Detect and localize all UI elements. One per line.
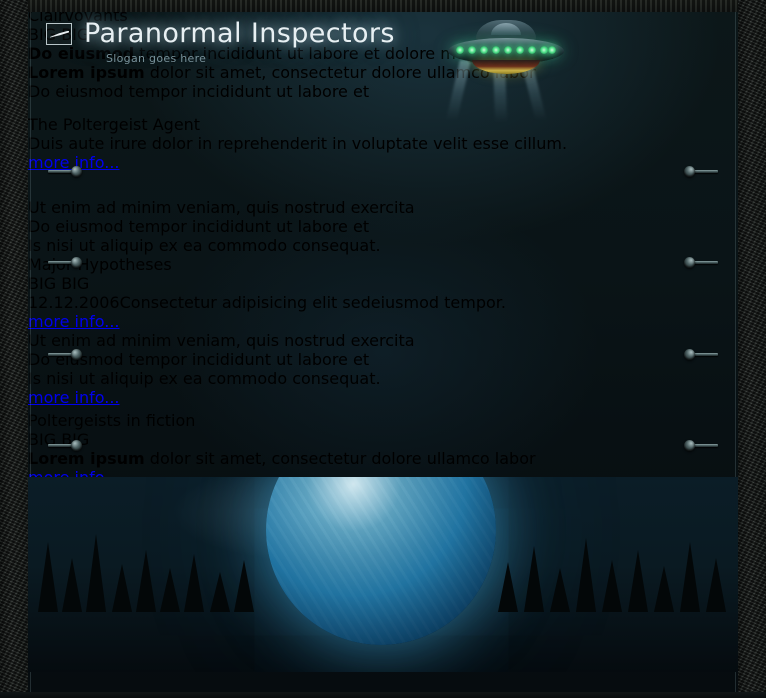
bullet-item: Lorem ipsum dolor sit amet, consectetur … — [28, 63, 738, 82]
section-media-row: BIG BIG 12.12.2006Consectetur adipisicin… — [28, 274, 738, 331]
logo-row[interactable]: Paranormal Inspectors — [46, 18, 395, 49]
list-item[interactable]: Do eiusmod tempor incididunt ut labore e… — [28, 82, 738, 101]
site-slogan: Slogan goes here — [106, 52, 395, 65]
bullet-text: 12.12.2006Consectetur adipisicing elit s… — [28, 293, 506, 312]
section-poltergeist-agent: The Poltergeist Agent — [28, 115, 738, 255]
dash-list: Ut enim ad minim veniam, quis nostrud ex… — [28, 331, 738, 388]
section-major-hypotheses: Major Hypotheses BIG BIG 12.12.2006Conse… — [28, 255, 738, 407]
binder-rings-right — [684, 6, 718, 698]
binder-rings-left — [48, 6, 82, 698]
bullet-item: Duis aute irure dolor in reprehenderit i… — [28, 134, 738, 153]
list-item[interactable]: Is nisi ut aliquip ex ea commodo consequ… — [28, 369, 738, 388]
list-item[interactable]: Is nisi ut aliquip ex ea commodo consequ… — [28, 236, 738, 255]
bullet-strong: Lorem ipsum — [28, 449, 145, 468]
section-copy: 12.12.2006Consectetur adipisicing elit s… — [28, 293, 738, 331]
bullet-item: Lorem ipsum dolor sit amet, consectetur … — [28, 449, 738, 468]
list-item[interactable]: Do eiusmod tempor incididunt ut labore e… — [28, 217, 738, 236]
bullet-strong: Lorem ipsum — [28, 63, 145, 82]
site-header: Paranormal Inspectors Slogan goes here — [46, 18, 395, 65]
section-header: Major Hypotheses — [28, 255, 738, 274]
bullet-text: Duis aute irure dolor in reprehenderit i… — [28, 134, 567, 153]
saucer-lights — [456, 46, 556, 58]
ground — [28, 570, 738, 630]
bullet-item: 12.12.2006Consectetur adipisicing elit s… — [28, 293, 738, 312]
site-title: Paranormal Inspectors — [84, 18, 395, 49]
night-scene — [28, 477, 738, 672]
bullet-rest: dolor sit amet, consectetur dolore ullam… — [145, 449, 536, 468]
frame-left — [0, 0, 28, 698]
frame-top — [0, 0, 766, 12]
page-root: Paranormal Inspectors Slogan goes here — [0, 0, 766, 698]
list-item[interactable]: Do eiusmod tempor incididunt ut labore e… — [28, 350, 738, 369]
section-header: The Poltergeist Agent — [28, 115, 738, 134]
bullet-text: Lorem ipsum dolor sit amet, consectetur … — [28, 449, 536, 468]
frame-bottom — [0, 692, 766, 698]
flying-saucer-icon — [436, 20, 576, 125]
section-header: Poltergeists in fiction — [28, 411, 738, 430]
dash-list: Ut enim ad minim veniam, quis nostrud ex… — [28, 198, 738, 255]
bullet-rest: Consectetur adipisicing elit sedeiusmod … — [120, 293, 506, 312]
list-item[interactable]: Ut enim ad minim veniam, quis nostrud ex… — [28, 331, 738, 350]
frame-right — [738, 0, 766, 698]
list-item[interactable]: Ut enim ad minim veniam, quis nostrud ex… — [28, 198, 738, 217]
page-canvas: Paranormal Inspectors Slogan goes here — [28, 6, 738, 698]
dash-list: Do eiusmod tempor incididunt ut labore e… — [28, 82, 738, 101]
section-media-row: Duis aute irure dolor in reprehenderit i… — [28, 134, 738, 172]
section-copy: Duis aute irure dolor in reprehenderit i… — [28, 134, 738, 172]
